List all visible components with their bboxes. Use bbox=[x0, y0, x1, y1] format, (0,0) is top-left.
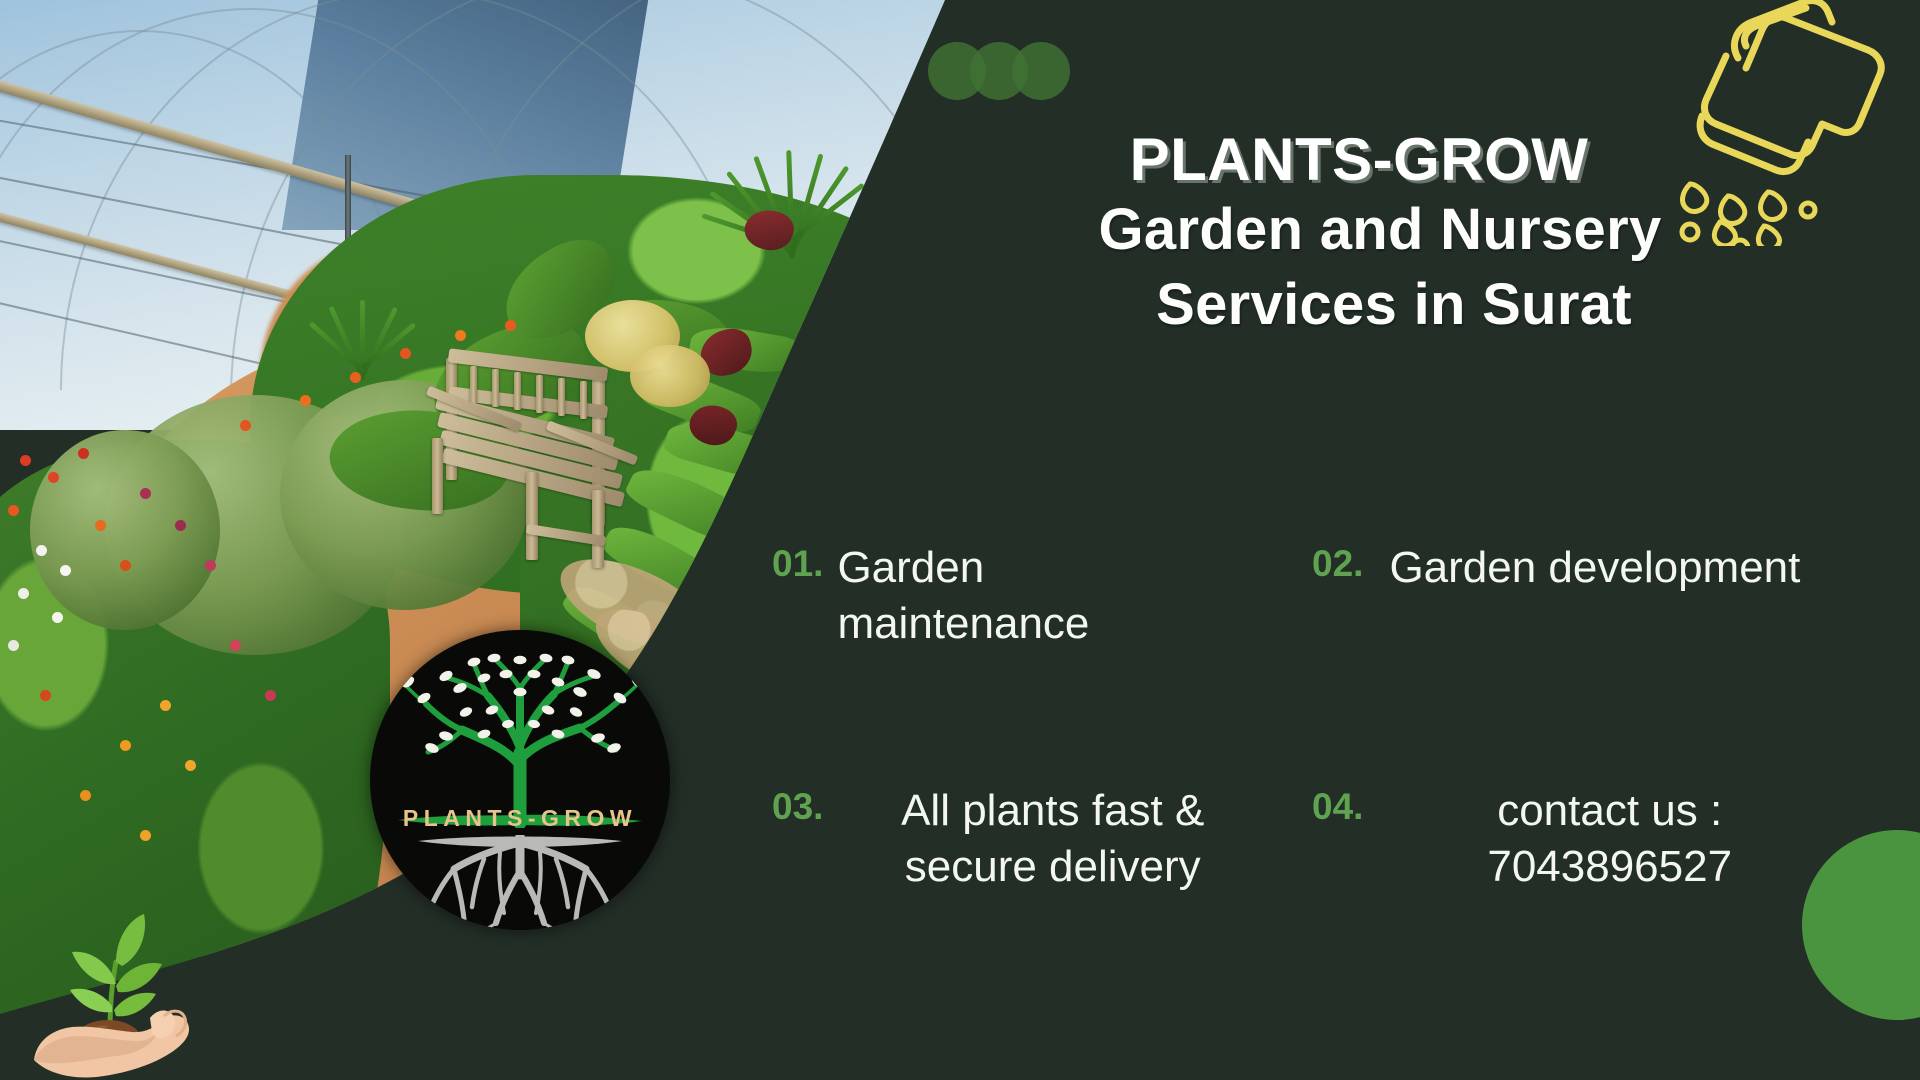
flower bbox=[265, 690, 276, 701]
plants-grow-logo-badge: PLANTS-GROW bbox=[370, 630, 670, 930]
flower bbox=[140, 488, 151, 499]
service-number-02: 02. bbox=[1312, 540, 1363, 587]
flower bbox=[80, 790, 91, 801]
service-number-01: 01. bbox=[772, 540, 823, 587]
flower bbox=[505, 320, 516, 331]
flower bbox=[36, 545, 47, 556]
service-label-03: All plants fast & secure delivery bbox=[863, 783, 1242, 896]
flower bbox=[400, 348, 411, 359]
flower bbox=[300, 395, 311, 406]
service-item-03: 03. All plants fast & secure delivery bbox=[772, 783, 1242, 896]
shrub bbox=[30, 430, 220, 630]
flower bbox=[48, 472, 59, 483]
flower bbox=[230, 640, 241, 651]
flower bbox=[8, 505, 19, 516]
flower bbox=[160, 700, 171, 711]
poster-canvas: PLANTS-GROW bbox=[0, 0, 1920, 1080]
flower bbox=[120, 740, 131, 751]
roots-icon bbox=[400, 835, 640, 930]
contact-phone-label[interactable]: contact us : 7043896527 bbox=[1387, 783, 1832, 896]
service-item-02: 02. Garden development bbox=[1312, 540, 1832, 653]
flower bbox=[455, 330, 466, 341]
services-list: 01. Garden maintenance 02. Garden develo… bbox=[772, 540, 1882, 895]
service-number-03: 03. bbox=[772, 783, 823, 830]
service-label-02: Garden development bbox=[1389, 540, 1800, 596]
flower bbox=[60, 565, 71, 576]
headline-line-2: Services in Surat bbox=[928, 267, 1860, 342]
logo-wordmark: PLANTS-GROW bbox=[370, 805, 670, 832]
flower bbox=[40, 690, 51, 701]
service-item-01: 01. Garden maintenance bbox=[772, 540, 1242, 653]
garden-bench bbox=[440, 350, 670, 565]
flower bbox=[78, 448, 89, 459]
decor-dot bbox=[1012, 42, 1070, 100]
flower bbox=[240, 420, 251, 431]
service-label-01: Garden maintenance bbox=[837, 540, 1242, 653]
flower bbox=[8, 640, 19, 651]
hand-holding-seedling-icon bbox=[32, 910, 222, 1078]
flower bbox=[175, 520, 186, 531]
flower bbox=[120, 560, 131, 571]
brand-title: PLANTS-GROW bbox=[858, 128, 1860, 192]
palm-fan bbox=[360, 300, 361, 301]
flower bbox=[95, 520, 106, 531]
flower bbox=[20, 455, 31, 466]
three-dots-decoration bbox=[928, 42, 1078, 102]
headline-line-1: Garden and Nursery bbox=[900, 192, 1860, 267]
flower bbox=[18, 588, 29, 599]
service-number-04: 04. bbox=[1312, 783, 1363, 830]
flower bbox=[185, 760, 196, 771]
flower bbox=[350, 372, 361, 383]
flower bbox=[52, 612, 63, 623]
palm-fan bbox=[790, 150, 791, 151]
flower bbox=[205, 560, 216, 571]
service-item-04[interactable]: 04. contact us : 7043896527 bbox=[1312, 783, 1832, 896]
tree-icon bbox=[388, 648, 652, 828]
flower bbox=[140, 830, 151, 841]
headline-block: PLANTS-GROW Garden and Nursery Services … bbox=[900, 128, 1860, 342]
